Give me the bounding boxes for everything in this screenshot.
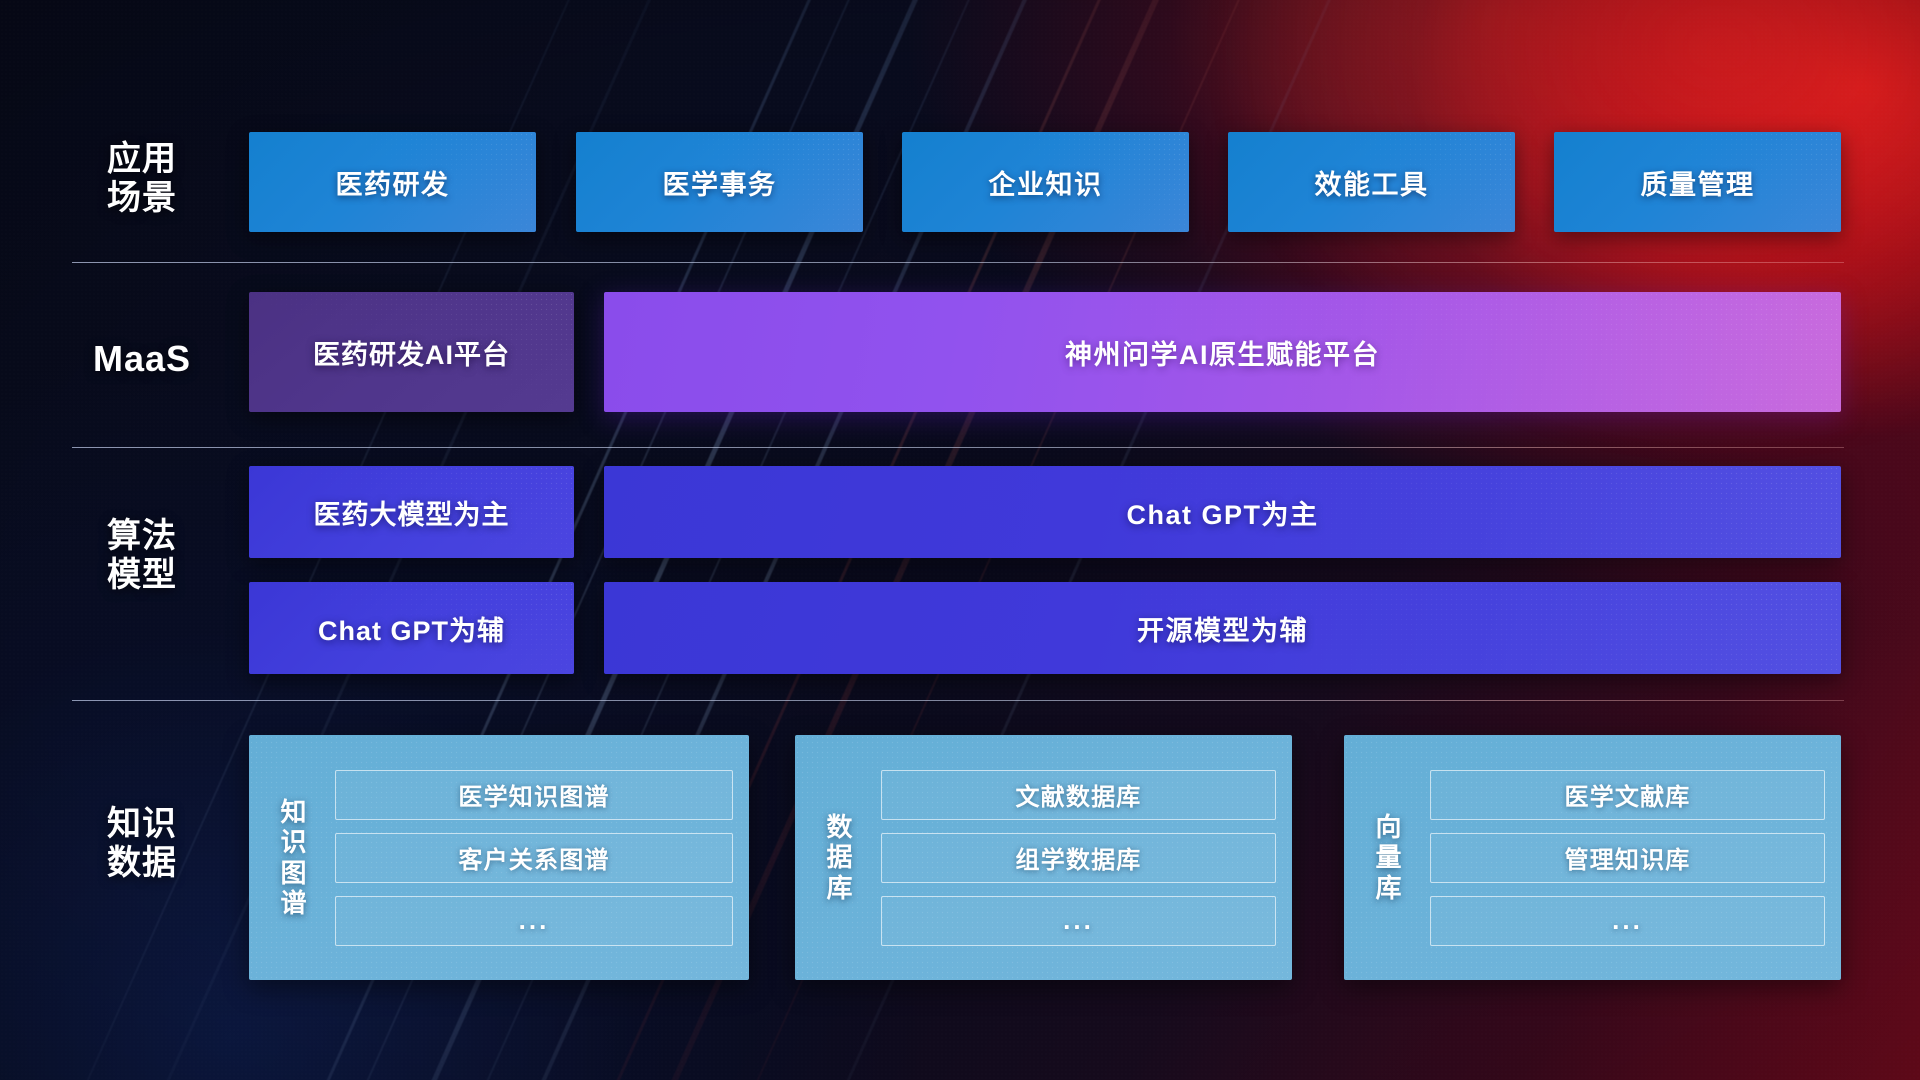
knowledge-item-more[interactable]: ... bbox=[881, 896, 1276, 946]
algo-box-medicine-large-model-primary[interactable]: 医药大模型为主 bbox=[249, 466, 574, 558]
knowledge-item[interactable]: 客户关系图谱 bbox=[335, 833, 733, 883]
dot-texture-icon bbox=[1228, 132, 1515, 232]
knowledge-group-vector-store[interactable]: 向 量 库 医学文献库 管理知识库 ... bbox=[1344, 735, 1841, 980]
row-label-line: 算法 bbox=[72, 517, 212, 556]
knowledge-item-list: 医学文献库 管理知识库 ... bbox=[1422, 756, 1841, 960]
dot-texture-icon bbox=[249, 292, 574, 412]
knowledge-item[interactable]: 医学文献库 bbox=[1430, 770, 1825, 820]
knowledge-group-database[interactable]: 数 据 库 文献数据库 组学数据库 ... bbox=[795, 735, 1292, 980]
knowledge-item[interactable]: 组学数据库 bbox=[881, 833, 1276, 883]
app-box-enterprise-knowledge[interactable]: 企业知识 bbox=[902, 132, 1189, 232]
row-label-line: 应用 bbox=[72, 140, 212, 179]
knowledge-group-title: 知 识 图 谱 bbox=[261, 797, 327, 919]
row-label-line: 数据 bbox=[72, 844, 212, 883]
knowledge-item-more[interactable]: ... bbox=[335, 896, 733, 946]
row-label-maas: MaaS bbox=[72, 338, 212, 380]
title-char: 据 bbox=[807, 842, 873, 872]
knowledge-item[interactable]: 管理知识库 bbox=[1430, 833, 1825, 883]
title-char: 向 bbox=[1356, 812, 1422, 842]
maas-box-shenzhou-wenxue-platform[interactable]: 神州问学AI原生赋能平台 bbox=[604, 292, 1841, 412]
dot-texture-icon bbox=[604, 582, 1841, 674]
title-char: 图 bbox=[261, 858, 327, 888]
app-box-efficiency-tools[interactable]: 效能工具 bbox=[1228, 132, 1515, 232]
algo-box-chatgpt-secondary[interactable]: Chat GPT为辅 bbox=[249, 582, 574, 674]
knowledge-item[interactable]: 文献数据库 bbox=[881, 770, 1276, 820]
title-char: 量 bbox=[1356, 842, 1422, 872]
dot-texture-icon bbox=[249, 132, 536, 232]
knowledge-group-knowledge-graph[interactable]: 知 识 图 谱 医学知识图谱 客户关系图谱 ... bbox=[249, 735, 749, 980]
divider-3 bbox=[72, 700, 1844, 701]
knowledge-item-list: 文献数据库 组学数据库 ... bbox=[873, 756, 1292, 960]
knowledge-group-title: 数 据 库 bbox=[807, 812, 873, 903]
knowledge-item[interactable]: 医学知识图谱 bbox=[335, 770, 733, 820]
knowledge-group-title: 向 量 库 bbox=[1356, 812, 1422, 903]
dot-texture-icon bbox=[576, 132, 863, 232]
title-char: 谱 bbox=[261, 888, 327, 918]
app-box-medical-affairs[interactable]: 医学事务 bbox=[576, 132, 863, 232]
row-label-line: 场景 bbox=[72, 179, 212, 218]
divider-1 bbox=[72, 262, 1844, 263]
title-char: 库 bbox=[807, 873, 873, 903]
dot-texture-icon bbox=[1554, 132, 1841, 232]
row-label-line: 知识 bbox=[72, 805, 212, 844]
knowledge-item-list: 医学知识图谱 客户关系图谱 ... bbox=[327, 756, 749, 960]
title-char: 识 bbox=[261, 827, 327, 857]
dot-texture-icon bbox=[902, 132, 1189, 232]
app-box-medicine-rd[interactable]: 医药研发 bbox=[249, 132, 536, 232]
title-char: 库 bbox=[1356, 873, 1422, 903]
divider-2 bbox=[72, 447, 1844, 448]
maas-box-medicine-rd-ai-platform[interactable]: 医药研发AI平台 bbox=[249, 292, 574, 412]
row-label-application-scenarios: 应用 场景 bbox=[72, 140, 212, 219]
dot-texture-icon bbox=[249, 466, 574, 558]
dot-texture-icon bbox=[604, 466, 1841, 558]
title-char: 数 bbox=[807, 812, 873, 842]
algo-box-chatgpt-primary[interactable]: Chat GPT为主 bbox=[604, 466, 1841, 558]
dot-texture-icon bbox=[249, 582, 574, 674]
row-label-line: 模型 bbox=[72, 556, 212, 595]
slide-canvas: 应用 场景 医药研发 医学事务 企业知识 效能工具 质量管理 MaaS bbox=[0, 0, 1920, 1080]
row-label-algorithm-model: 算法 模型 bbox=[72, 517, 212, 596]
knowledge-item-more[interactable]: ... bbox=[1430, 896, 1825, 946]
title-char: 知 bbox=[261, 797, 327, 827]
app-box-quality-management[interactable]: 质量管理 bbox=[1554, 132, 1841, 232]
algo-box-opensource-secondary[interactable]: 开源模型为辅 bbox=[604, 582, 1841, 674]
row-label-line: MaaS bbox=[72, 338, 212, 380]
row-label-knowledge-data: 知识 数据 bbox=[72, 805, 212, 884]
dot-texture-icon bbox=[604, 292, 1841, 412]
